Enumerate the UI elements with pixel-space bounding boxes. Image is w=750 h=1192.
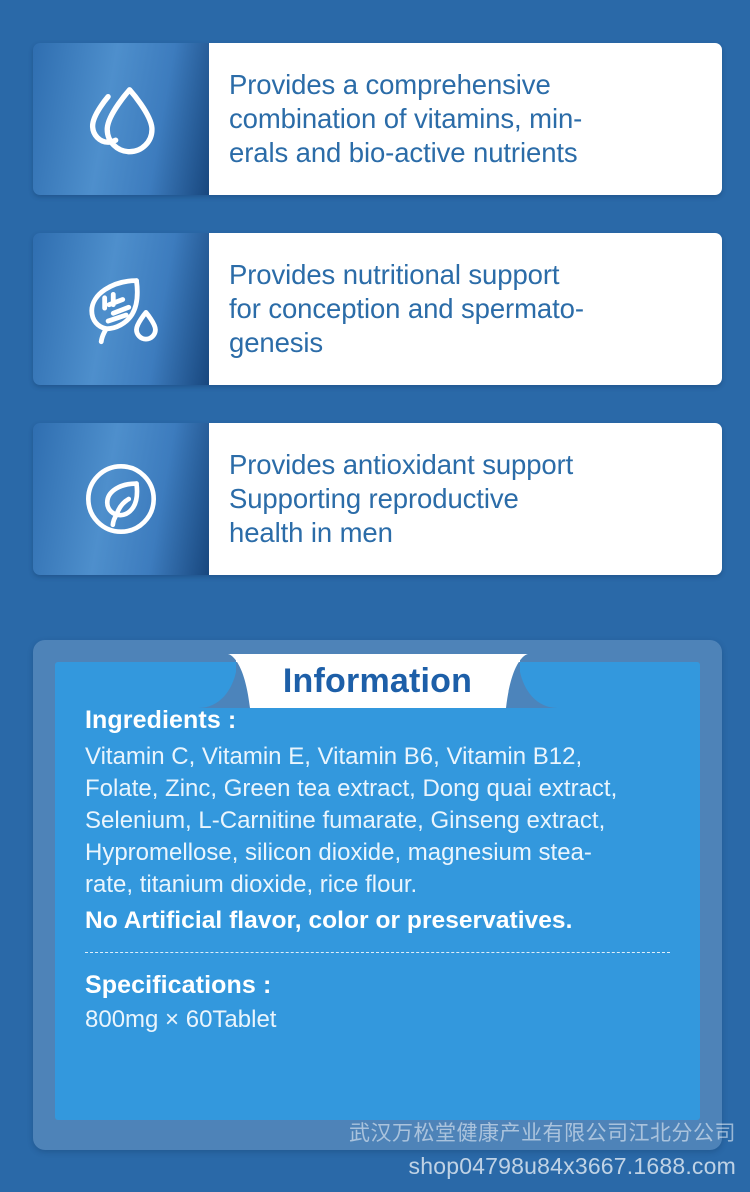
feature-card-text: Provides antioxidant support Supporting … [229,448,573,550]
feature-card-text: Provides a comprehensive combination of … [229,68,582,170]
ingredients-text: Vitamin C, Vitamin E, Vitamin B6, Vitami… [85,741,670,901]
feature-card-icon-panel [33,43,209,195]
leaf-with-drop-icon [78,266,164,352]
double-water-drop-icon [78,76,164,162]
information-banner: Information [198,654,558,716]
feature-card-icon-panel [33,423,209,575]
specifications-value: 800mg × 60Tablet [85,1006,670,1034]
watermark-url: shop04798u84x3667.1688.com [349,1150,736,1182]
feature-card-text-panel: Provides nutritional support for concept… [209,233,722,385]
specifications-label: Specifications : [85,971,670,1000]
information-panel: Information Ingredients : Vitamin C, Vit… [33,640,722,1150]
feature-cards-list: Provides a comprehensive combination of … [33,43,722,613]
section-divider [85,952,670,953]
leaf-in-circle-icon [78,456,164,542]
feature-card: Provides antioxidant support Supporting … [33,423,722,575]
feature-card-text-panel: Provides a comprehensive combination of … [209,43,722,195]
feature-card: Provides a comprehensive combination of … [33,43,722,195]
feature-card-icon-panel [33,233,209,385]
no-artificial-text: No Artificial flavor, color or preservat… [85,907,670,935]
feature-card-text-panel: Provides antioxidant support Supporting … [209,423,722,575]
feature-card-text: Provides nutritional support for concept… [229,258,584,360]
information-panel-inner: Information Ingredients : Vitamin C, Vit… [55,662,700,1120]
feature-card: Provides nutritional support for concept… [33,233,722,385]
information-banner-title: Information [198,654,558,708]
